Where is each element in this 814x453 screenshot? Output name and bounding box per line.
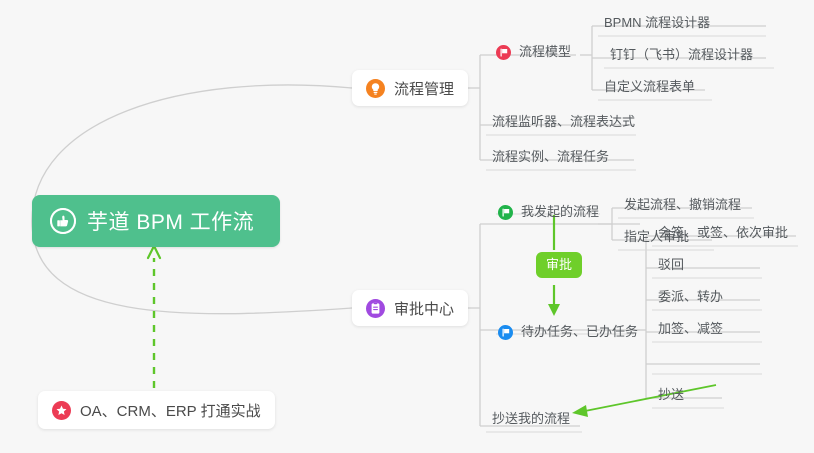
branch-node-flow-management[interactable]: 流程管理: [352, 70, 468, 106]
leaf-process-model[interactable]: 流程模型: [492, 42, 575, 65]
leaf-label: 抄送我的流程: [492, 409, 570, 429]
leaf-label: BPMN 流程设计器: [604, 13, 710, 33]
leaf-start-cancel-process[interactable]: 发起流程、撤销流程: [620, 195, 745, 218]
leaf-process-instance[interactable]: 流程实例、流程任务: [488, 147, 613, 170]
leaf-label: 委派、转办: [658, 287, 723, 307]
leaf-label: 抄送: [658, 385, 684, 405]
leaf-label: 会签、或签、依次审批: [658, 223, 788, 243]
leaf-add-remove-sign[interactable]: 加签、减签: [654, 319, 727, 342]
leaf-todo-done-tasks[interactable]: 待办任务、已办任务: [494, 322, 642, 345]
branch-label: 审批中心: [394, 298, 454, 319]
leaf-bpmn-designer[interactable]: BPMN 流程设计器: [600, 13, 714, 36]
leaf-custom-process-form[interactable]: 自定义流程表单: [600, 77, 699, 100]
leaf-label: 流程监听器、流程表达式: [492, 112, 635, 132]
leaf-countersign-modes[interactable]: 会签、或签、依次审批: [654, 223, 792, 246]
leaf-label: 驳回: [658, 255, 684, 275]
approval-pill[interactable]: 审批: [536, 252, 582, 278]
cc-link-arrow: [572, 385, 716, 417]
leaf-label: 自定义流程表单: [604, 77, 695, 97]
leaf-label: 发起流程、撤销流程: [624, 195, 741, 215]
leaf-label: 我发起的流程: [521, 202, 599, 222]
leaf-label: 加签、减签: [658, 319, 723, 339]
leaf-dingtalk-feishu-designer[interactable]: 钉钉（飞书）流程设计器: [606, 45, 757, 68]
leaf-reject[interactable]: 驳回: [654, 255, 688, 278]
star-icon: [52, 401, 71, 420]
approval-pill-label: 审批: [546, 257, 572, 272]
branch-label: 流程管理: [394, 78, 454, 99]
lightbulb-icon: [366, 79, 385, 98]
leaf-label: 钉钉（飞书）流程设计器: [610, 45, 753, 65]
branch-node-approval-center[interactable]: 审批中心: [352, 290, 468, 326]
root-node[interactable]: 芋道 BPM 工作流: [32, 195, 280, 247]
note-node-integration[interactable]: OA、CRM、ERP 打通实战: [38, 391, 275, 429]
flag-icon: [498, 325, 513, 340]
clipboard-icon: [366, 299, 385, 318]
mindmap-canvas: 芋道 BPM 工作流 流程管理 审批中心: [0, 0, 814, 453]
leaf-my-initiated-process[interactable]: 我发起的流程: [494, 202, 603, 225]
flag-icon: [498, 205, 513, 220]
leaf-label: 流程模型: [519, 42, 571, 62]
flag-icon: [496, 45, 511, 60]
thumbs-up-icon: [50, 208, 76, 234]
leaf-cc-to-me[interactable]: 抄送我的流程: [488, 409, 574, 432]
note-label: OA、CRM、ERP 打通实战: [80, 400, 261, 421]
leaf-label: 流程实例、流程任务: [492, 147, 609, 167]
root-label: 芋道 BPM 工作流: [87, 206, 254, 236]
leaf-process-listener[interactable]: 流程监听器、流程表达式: [488, 112, 639, 135]
leaf-cc[interactable]: 抄送: [654, 385, 688, 408]
oa-note-arrow: [148, 246, 160, 388]
leaf-label: 待办任务、已办任务: [521, 322, 638, 342]
leaf-delegate-transfer[interactable]: 委派、转办: [654, 287, 727, 310]
